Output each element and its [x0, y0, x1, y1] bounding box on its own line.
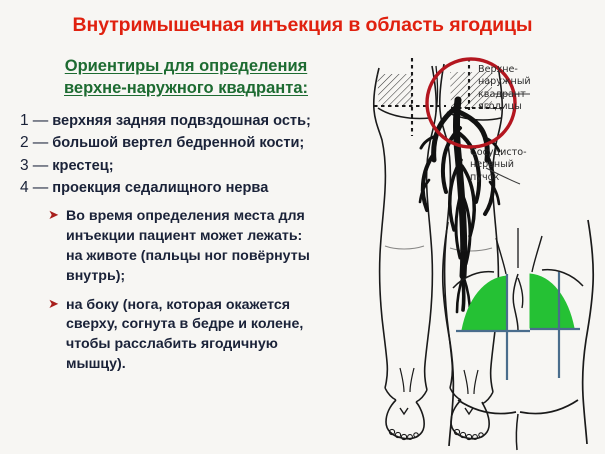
- right-foot: [451, 400, 489, 439]
- landmark-number: 3: [20, 157, 29, 174]
- subheading-line-1: Ориентиры для определения: [18, 56, 354, 78]
- left-achilles-2: [410, 368, 414, 392]
- subheading-line-2: верхне-наружного квадранта:: [18, 78, 354, 100]
- left-gluteal-fold: [378, 108, 430, 119]
- landmark-dash: —: [33, 112, 49, 129]
- note-line-3: на животе (пальцы ног повёрнуты: [66, 247, 360, 267]
- landmark-list: 1 — верхняя задняя подвздошная ость; 2 —…: [12, 110, 360, 201]
- landmark-dash: —: [33, 157, 49, 174]
- right-ankle-inner: [450, 388, 461, 400]
- note-line-2: сверху, согнута в бедре и колене,: [66, 315, 360, 335]
- gluteal-cleft-lower: [513, 274, 518, 330]
- list-item: ➤ на боку (нога, которая окажется сверху…: [48, 296, 360, 376]
- note-line-3: чтобы расслабить ягодичную: [66, 335, 360, 355]
- right-ankle: [482, 392, 493, 404]
- subheading: Ориентиры для определения верхне-наружно…: [12, 56, 360, 100]
- left-foot: [386, 400, 424, 439]
- bundle-label-line-2: нервный: [470, 159, 580, 171]
- note-line-2: инъекции пациент может лежать:: [66, 227, 360, 247]
- left-knee-line: [385, 246, 424, 249]
- right-injection-zone-fill: [530, 274, 574, 328]
- notes-list: ➤ Во время определения места для инъекци…: [12, 207, 360, 375]
- bundle-label-line-3: пучок: [470, 172, 580, 184]
- arrow-bullet-icon: ➤: [48, 206, 59, 225]
- quadrant-label-line-4: ягодицы: [478, 101, 588, 113]
- note-line-4: внутрь);: [66, 267, 360, 287]
- right-achilles: [464, 370, 468, 394]
- quadrant-label-line-1: Верхне-: [478, 64, 588, 76]
- list-item: 2 — большой вертел бедренной кости;: [20, 132, 360, 155]
- note-line-1: Во время определения места для: [66, 207, 360, 227]
- arrow-bullet-icon: ➤: [48, 295, 59, 314]
- list-item: 4 — проекция седалищного нерва: [20, 177, 360, 200]
- label-neurovascular-bundle: Сосудисто- нервный пучок: [470, 147, 580, 184]
- landmark-number: 1: [20, 112, 29, 129]
- left-ankle-inner: [416, 390, 427, 402]
- right-achilles-2: [474, 370, 478, 394]
- label-upper-outer-quadrant: Верхне- наружный квадрант ягодицы: [478, 64, 588, 114]
- landmark-number: 2: [20, 134, 29, 151]
- list-item: 1 — верхняя задняя подвздошная ость;: [20, 110, 360, 133]
- right-gluteal-fold-lower: [520, 400, 578, 414]
- left-heel-mark: [400, 408, 408, 414]
- landmark-text: крестец;: [52, 158, 113, 174]
- bundle-label-line-1: Сосудисто-: [470, 147, 580, 159]
- landmark-dash: —: [33, 179, 49, 196]
- landmark-text: верхняя задняя подвздошная ость;: [52, 113, 311, 129]
- thigh-separation: [516, 414, 518, 450]
- quadrant-label-line-3: квадрант: [478, 89, 588, 101]
- left-leg-inner-outline: [425, 66, 437, 390]
- right-leg-outline: [491, 66, 503, 392]
- landmark-text: большой вертел бедренной кости;: [52, 135, 304, 151]
- landmark-text: проекция седалищного нерва: [52, 180, 268, 196]
- left-upper-outer-quadrant-hatch: [377, 74, 412, 106]
- left-leg-outline: [374, 68, 388, 388]
- sacral-crease-right: [532, 236, 542, 272]
- text-panel: Ориентиры для определения верхне-наружно…: [12, 56, 360, 384]
- left-hip-outline: [443, 222, 454, 446]
- note-line-4: мышцу).: [66, 355, 360, 375]
- note-line-1: на боку (нога, которая окажется: [66, 296, 360, 316]
- page-title: Внутримышечная инъекция в область ягодиц…: [0, 14, 605, 37]
- landmark-dash: —: [33, 134, 49, 151]
- right-heel-mark: [465, 408, 473, 414]
- quadrant-label-line-2: наружный: [478, 76, 588, 88]
- figure-legs-posterior: [374, 58, 530, 440]
- gluteal-cleft-lower-2: [518, 278, 523, 308]
- list-item: 3 — крестец;: [20, 155, 360, 178]
- illustration-panel: Верхне- наружный квадрант ягодицы Сосуди…: [352, 50, 605, 454]
- list-item: ➤ Во время определения места для инъекци…: [48, 207, 360, 287]
- right-knee-line: [450, 248, 492, 251]
- slide-root: Внутримышечная инъекция в область ягодиц…: [0, 0, 605, 454]
- right-hip-outline: [583, 220, 594, 444]
- left-ankle: [385, 388, 396, 400]
- landmark-number: 4: [20, 179, 29, 196]
- left-achilles: [400, 368, 404, 392]
